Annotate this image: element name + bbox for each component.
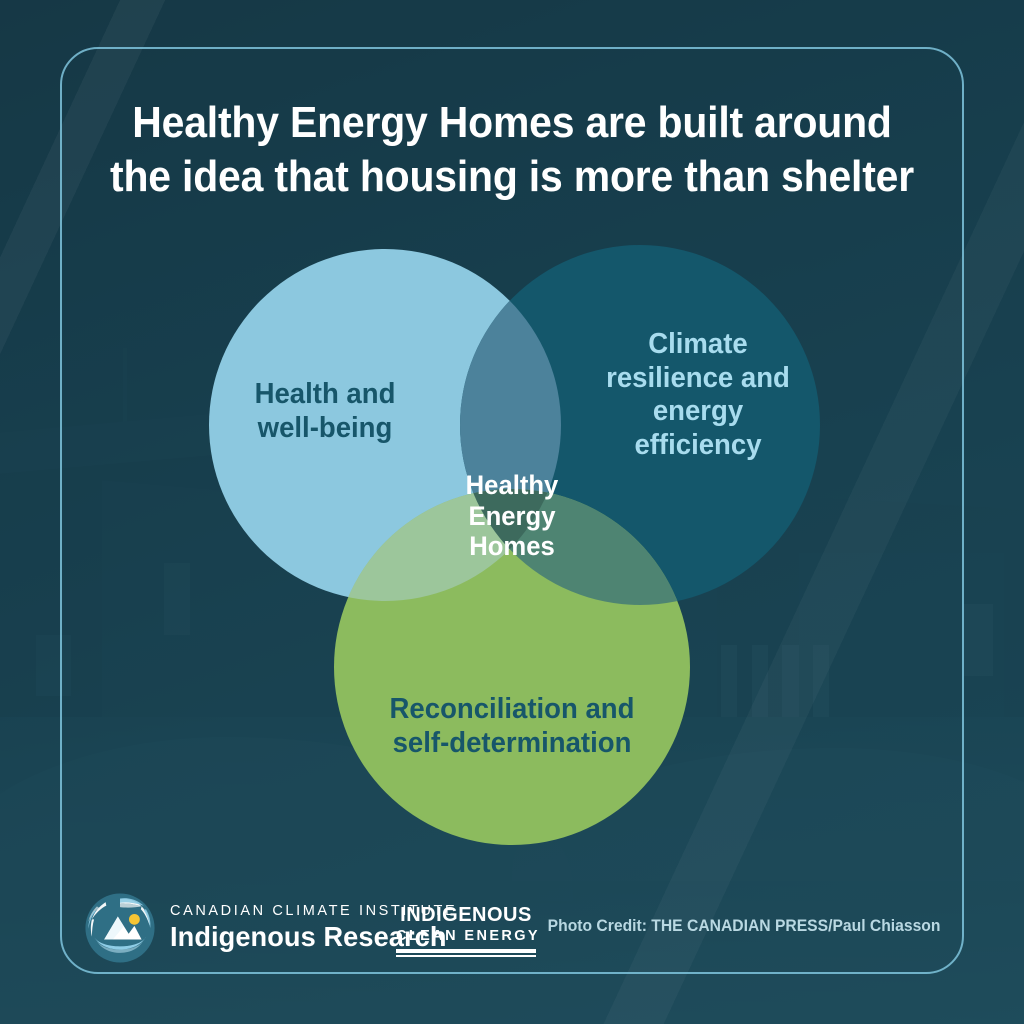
cci-emblem-icon (84, 892, 156, 964)
venn-label-center-line1: Healthy (436, 470, 588, 501)
venn-label-center: Healthy Energy Homes (436, 470, 588, 562)
ice-logo-top-line: INDIGENOUS (396, 904, 536, 927)
venn-label-climate-line2: resilience and (603, 362, 793, 396)
ice-logo-bottom-line: CLEAN ENERGY (396, 928, 536, 944)
venn-label-climate-line4: efficiency (603, 429, 793, 463)
venn-label-reconciliation-line1: Reconciliation and (360, 693, 664, 727)
venn-label-health: Health and well-being (230, 378, 420, 445)
venn-label-climate: Climate resilience and energy efficiency (603, 328, 793, 463)
venn-label-health-line2: well-being (230, 412, 420, 446)
venn-label-reconciliation: Reconciliation and self-determination (360, 693, 664, 760)
venn-label-health-line1: Health and (230, 378, 420, 412)
photo-credit: Photo Credit: THE CANADIAN PRESS/Paul Ch… (547, 917, 940, 936)
footer: CANADIAN CLIMATE INSTITUTE Indigenous Re… (0, 890, 1024, 970)
venn-label-center-line2: Energy (436, 501, 588, 532)
infographic-canvas: Healthy Energy Homes are built around th… (0, 0, 1024, 1024)
venn-label-center-line3: Homes (436, 531, 588, 562)
venn-label-climate-line1: Climate (603, 328, 793, 362)
ice-logo-rule (396, 955, 536, 957)
venn-label-climate-line3: energy (603, 395, 793, 429)
indigenous-clean-energy-logo: INDIGENOUS CLEAN ENERGY (396, 904, 536, 957)
ice-logo-rule (396, 949, 536, 953)
venn-label-reconciliation-line2: self-determination (360, 727, 664, 761)
